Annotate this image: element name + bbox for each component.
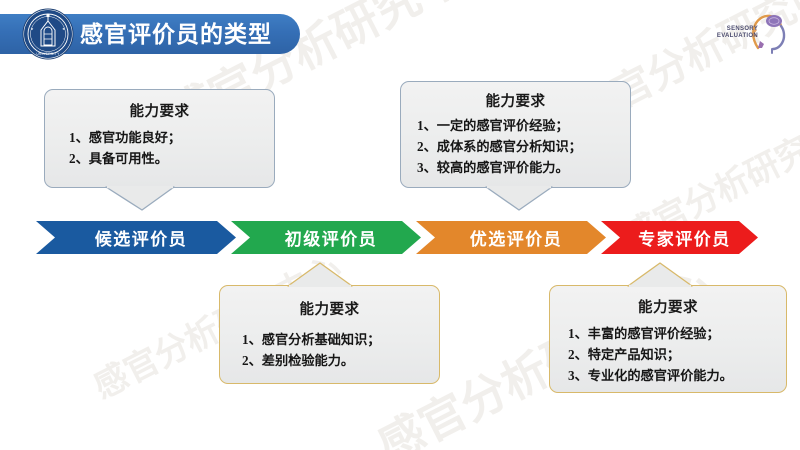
callout-title: 能力要求 [401, 90, 630, 111]
process-step-preferred[interactable]: 优选评价员 [416, 221, 606, 254]
callout-expert: 能力要求 1、丰富的感官评价经验； 2、特定产品知识； 3、专业化的感官评价能力… [549, 285, 787, 393]
callout-item: 2、差别检验能力。 [242, 350, 439, 371]
process-step-label: 专家评价员 [628, 225, 731, 250]
callout-item: 1、感官分析基础知识； [242, 329, 439, 350]
callout-title: 能力要求 [220, 298, 439, 319]
process-step-label: 候选评价员 [85, 225, 188, 250]
callout-preferred: 能力要求 1、一定的感官评价经验； 2、成体系的感官分析知识； 3、较高的感官评… [400, 81, 631, 188]
callout-title: 能力要求 [45, 100, 274, 121]
process-step-candidate[interactable]: 候选评价员 [36, 221, 236, 254]
callout-item: 1、感官功能良好； [69, 127, 274, 148]
callout-item: 2、具备可用性。 [69, 148, 274, 169]
university-seal-icon: UNIVERSITY ★ ★ [22, 8, 74, 60]
callout-item: 3、较高的感官评价能力。 [417, 157, 630, 178]
slide-canvas: 感官分析研究中心 感官分析研究中心 感官分析研究中心 感官分析研究中心 感官分析… [0, 0, 800, 450]
logo-line-2: EVALUATION [717, 33, 758, 39]
svg-text:★: ★ [62, 27, 65, 31]
callout-item: 2、特定产品知识； [568, 344, 786, 365]
svg-text:★: ★ [31, 27, 34, 31]
callout-tail-candidate [105, 186, 175, 212]
callout-candidate: 能力要求 1、感官功能良好； 2、具备可用性。 [44, 89, 275, 188]
callout-item: 1、一定的感官评价经验； [417, 115, 630, 136]
process-step-label: 优选评价员 [460, 225, 563, 250]
callout-item: 3、专业化的感官评价能力。 [568, 365, 786, 386]
callout-title: 能力要求 [550, 296, 786, 317]
callout-item: 1、丰富的感官评价经验； [568, 323, 786, 344]
logo-line-1: SENSORY [727, 26, 758, 32]
sensory-evaluation-logo-text: SENSORY EVALUATION [717, 26, 758, 41]
callout-tail-preferred [485, 186, 553, 212]
page-title: 感官评价员的类型 [80, 15, 295, 53]
svg-text:UNIVERSITY: UNIVERSITY [36, 52, 60, 56]
callout-junior: 能力要求 1、感官分析基础知识； 2、差别检验能力。 [219, 285, 440, 384]
callout-tail-junior [287, 262, 353, 287]
process-step-expert[interactable]: 专家评价员 [601, 221, 758, 254]
process-chevron-band: 候选评价员 初级评价员 优选评价员 专家评价员 [36, 221, 758, 254]
process-step-label: 初级评价员 [275, 225, 378, 250]
process-step-junior[interactable]: 初级评价员 [231, 221, 421, 254]
callout-item: 2、成体系的感官分析知识； [417, 136, 630, 157]
callout-tail-expert [627, 262, 693, 287]
